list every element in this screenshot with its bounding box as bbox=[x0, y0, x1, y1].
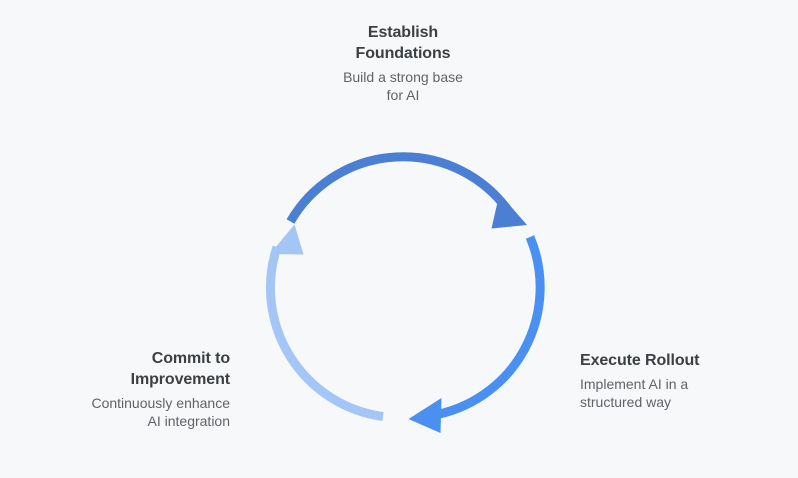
node-establish-foundations[interactable]: Establish Foundations Build a strong bas… bbox=[283, 22, 523, 104]
node-title-line-1: Execute Rollout bbox=[580, 352, 699, 369]
node-description: Implement AI in a structured way bbox=[580, 371, 785, 411]
node-commit-to-improvement[interactable]: Commit to Improvement Continuously enhan… bbox=[30, 348, 230, 430]
node-execute-rollout[interactable]: Execute Rollout Implement AI in a struct… bbox=[580, 350, 785, 411]
diagram-canvas: Establish Foundations Build a strong bas… bbox=[0, 0, 798, 478]
arc-left-path bbox=[270, 247, 383, 417]
node-title-line-2: Improvement bbox=[131, 371, 230, 388]
node-desc-line-1: Build a strong base bbox=[343, 69, 463, 85]
node-desc-line-1: Continuously enhance bbox=[91, 395, 230, 411]
node-desc-line-2: AI integration bbox=[148, 413, 231, 429]
node-desc-line-1: Implement AI in a bbox=[580, 376, 688, 392]
node-desc-line-2: structured way bbox=[580, 394, 671, 410]
arc-establish-to-execute bbox=[291, 157, 528, 229]
arc-right-path bbox=[432, 237, 540, 416]
node-description: Continuously enhance AI integration bbox=[30, 390, 230, 430]
node-desc-line-2: for AI bbox=[387, 87, 420, 103]
node-title-line-1: Establish bbox=[368, 24, 438, 41]
node-description: Build a strong base for AI bbox=[283, 64, 523, 104]
arc-commit-to-establish bbox=[270, 225, 383, 417]
arrowhead-top-left-icon bbox=[270, 225, 304, 255]
node-title: Execute Rollout bbox=[580, 350, 785, 371]
arc-top-path bbox=[291, 157, 508, 222]
node-title: Commit to Improvement bbox=[30, 348, 230, 390]
node-title-line-1: Commit to bbox=[152, 350, 230, 367]
arc-execute-to-commit bbox=[409, 237, 541, 433]
node-title: Establish Foundations bbox=[283, 22, 523, 64]
node-title-line-2: Foundations bbox=[356, 45, 451, 62]
arrowhead-bottom-left-icon bbox=[409, 398, 442, 433]
